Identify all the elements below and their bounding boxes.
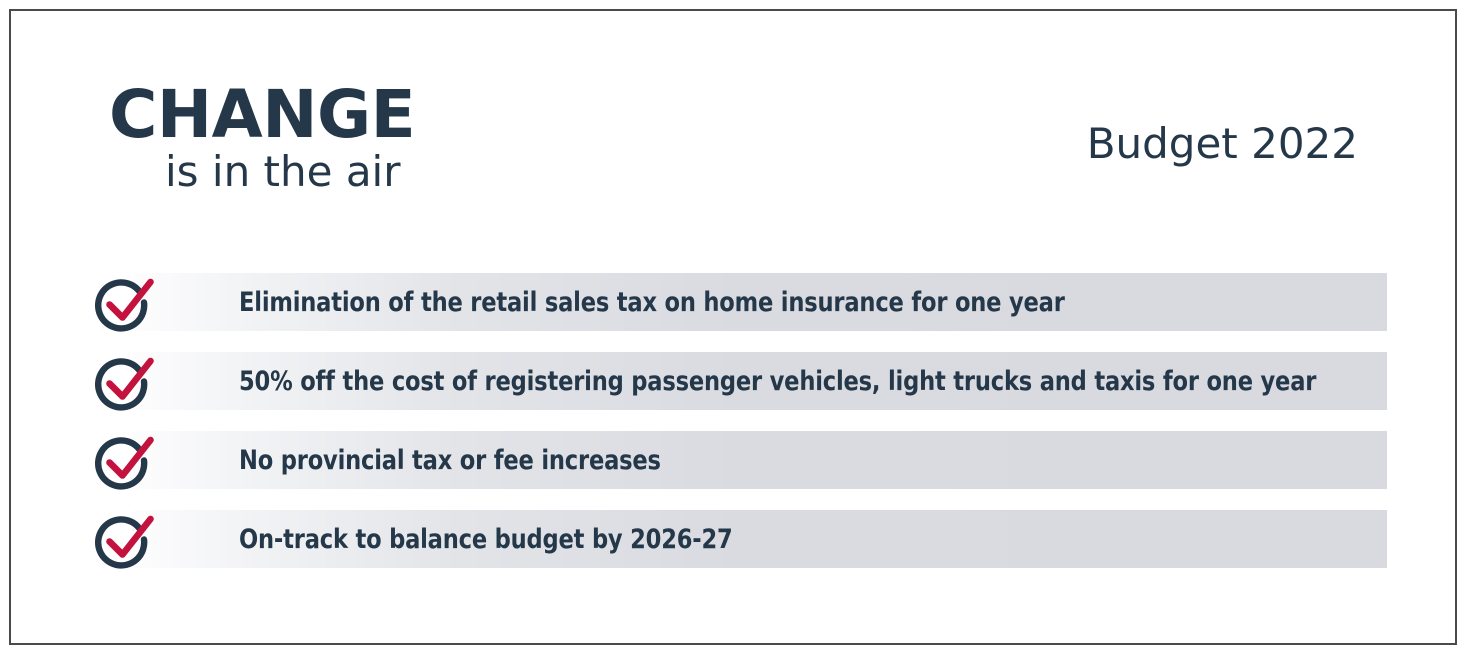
brand-lockup: CHANGE is in the air (109, 83, 629, 194)
list-item: 50% off the cost of registering passenge… (87, 352, 1387, 410)
list-item-label: Elimination of the retail sales tax on h… (133, 289, 1065, 316)
check-circle-icon (87, 271, 159, 337)
list-item: Elimination of the retail sales tax on h… (87, 273, 1387, 331)
list-item-background: On-track to balance budget by 2026-27 (133, 510, 1387, 568)
list-item-background: 50% off the cost of registering passenge… (133, 352, 1387, 410)
brand-tagline: is in the air (165, 150, 629, 194)
list-item: No provincial tax or fee increases (87, 431, 1387, 489)
highlights-list: Elimination of the retail sales tax on h… (87, 273, 1387, 568)
brand-word: CHANGE (109, 83, 629, 146)
slide-frame: CHANGE is in the air Budget 2022 Elimina… (9, 9, 1457, 645)
list-item-background: No provincial tax or fee increases (133, 431, 1387, 489)
list-item-label: No provincial tax or fee increases (133, 447, 661, 474)
check-circle-icon (87, 508, 159, 574)
list-item-label: On-track to balance budget by 2026-27 (133, 526, 733, 553)
list-item-label: 50% off the cost of registering passenge… (133, 368, 1316, 395)
list-item-background: Elimination of the retail sales tax on h… (133, 273, 1387, 331)
check-circle-icon (87, 429, 159, 495)
list-item: On-track to balance budget by 2026-27 (87, 510, 1387, 568)
slide-canvas: CHANGE is in the air Budget 2022 Elimina… (11, 11, 1455, 643)
page-title: Budget 2022 (1087, 123, 1358, 165)
check-circle-icon (87, 350, 159, 416)
